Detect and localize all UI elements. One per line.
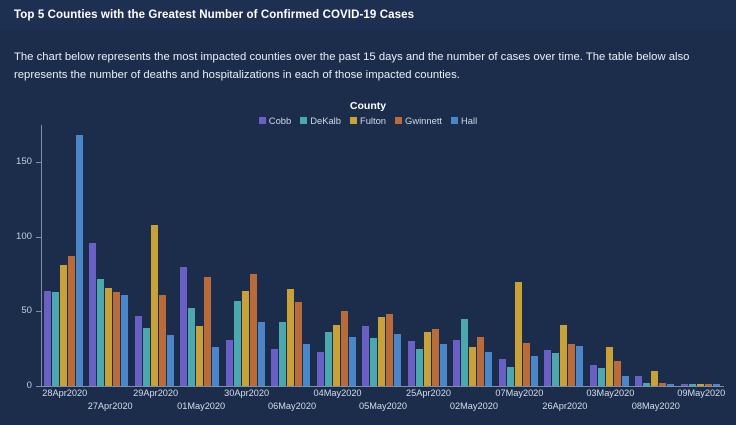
x-tick-label: 01May2020: [177, 401, 225, 411]
bar-fulton[interactable]: [105, 288, 112, 386]
bar-fulton[interactable]: [196, 326, 203, 386]
y-tick-mark: [36, 311, 41, 312]
bar-cobb[interactable]: [271, 349, 278, 386]
bar-cobb[interactable]: [544, 350, 551, 386]
bar-fulton[interactable]: [424, 332, 431, 386]
bar-group: [135, 125, 177, 386]
bar-cobb[interactable]: [408, 341, 415, 386]
bar-cobb[interactable]: [135, 316, 142, 386]
bar-hall[interactable]: [258, 322, 265, 386]
bar-gwinnett[interactable]: [659, 383, 666, 386]
bar-dekalb[interactable]: [188, 308, 195, 386]
bar-fulton[interactable]: [697, 384, 704, 386]
bar-hall[interactable]: [622, 376, 629, 386]
bar-hall[interactable]: [576, 346, 583, 386]
bar-fulton[interactable]: [469, 347, 476, 386]
bar-cobb[interactable]: [89, 243, 96, 386]
bar-hall[interactable]: [713, 384, 720, 386]
bar-dekalb[interactable]: [143, 328, 150, 386]
bar-gwinnett[interactable]: [68, 256, 75, 386]
legend-title: County: [350, 100, 386, 112]
bar-dekalb[interactable]: [416, 349, 423, 386]
bar-gwinnett[interactable]: [204, 277, 211, 386]
bar-group: [499, 125, 541, 386]
bars-area: [42, 125, 724, 386]
bar-hall[interactable]: [212, 347, 219, 386]
bar-group: [635, 125, 677, 386]
x-tick-label: 09May2020: [677, 388, 725, 398]
bar-gwinnett[interactable]: [568, 344, 575, 386]
bar-hall[interactable]: [394, 334, 401, 386]
x-tick-label: 05May2020: [359, 401, 407, 411]
bar-chart-plot: 050100150: [0, 125, 736, 387]
bar-dekalb[interactable]: [598, 368, 605, 386]
bar-fulton[interactable]: [287, 289, 294, 386]
bar-dekalb[interactable]: [370, 338, 377, 386]
x-tick-label: 28Apr2020: [42, 388, 87, 398]
bar-fulton[interactable]: [242, 291, 249, 386]
bar-dekalb[interactable]: [552, 353, 559, 386]
bar-group: [317, 125, 359, 386]
x-tick-label: 26Apr2020: [542, 401, 587, 411]
bar-dekalb[interactable]: [234, 301, 241, 386]
header-band: Top 5 Counties with the Greatest Number …: [0, 0, 736, 30]
bar-group: [89, 125, 131, 386]
bar-dekalb[interactable]: [643, 383, 650, 386]
x-axis-labels: 28Apr202027Apr202029Apr202001May202030Ap…: [0, 388, 736, 423]
y-tick-mark: [36, 162, 41, 163]
bar-hall[interactable]: [167, 335, 174, 386]
bar-hall[interactable]: [303, 344, 310, 386]
y-tick-mark: [36, 386, 41, 387]
bar-group: [362, 125, 404, 386]
legend-swatch-icon: [259, 117, 266, 124]
bar-group: [44, 125, 86, 386]
bar-group: [408, 125, 450, 386]
bar-fulton[interactable]: [651, 371, 658, 386]
bar-gwinnett[interactable]: [159, 295, 166, 386]
bar-fulton[interactable]: [333, 325, 340, 386]
bar-group: [271, 125, 313, 386]
bar-hall[interactable]: [349, 337, 356, 386]
bar-dekalb[interactable]: [461, 319, 468, 386]
bar-cobb[interactable]: [317, 352, 324, 386]
bar-fulton[interactable]: [515, 282, 522, 386]
dashboard-page: Top 5 Counties with the Greatest Number …: [0, 0, 736, 425]
chart-legend: County CobbDeKalbFultonGwinnettHall: [0, 100, 736, 126]
bar-dekalb[interactable]: [325, 332, 332, 386]
description-text: The chart below represents the most impa…: [14, 48, 720, 84]
bar-hall[interactable]: [667, 384, 674, 386]
bar-group: [453, 125, 495, 386]
bar-cobb[interactable]: [590, 365, 597, 386]
bar-gwinnett[interactable]: [250, 274, 257, 386]
bar-gwinnett[interactable]: [477, 337, 484, 386]
bar-cobb[interactable]: [44, 291, 51, 386]
bar-cobb[interactable]: [180, 267, 187, 386]
bar-gwinnett[interactable]: [113, 292, 120, 386]
bar-dekalb[interactable]: [279, 322, 286, 386]
bar-gwinnett[interactable]: [523, 343, 530, 386]
bar-fulton[interactable]: [151, 225, 158, 386]
legend-swatch-icon: [350, 117, 357, 124]
bar-cobb[interactable]: [499, 359, 506, 386]
y-tick-mark: [36, 237, 41, 238]
x-tick-label: 08May2020: [632, 401, 680, 411]
y-tick-label: 100: [0, 231, 32, 242]
bar-dekalb[interactable]: [689, 384, 696, 386]
x-tick-label: 30Apr2020: [224, 388, 269, 398]
x-tick-label: 29Apr2020: [133, 388, 178, 398]
bar-hall[interactable]: [531, 356, 538, 386]
bar-group: [544, 125, 586, 386]
bar-gwinnett[interactable]: [705, 384, 712, 386]
bar-gwinnett[interactable]: [614, 361, 621, 386]
bar-dekalb[interactable]: [97, 279, 104, 386]
bar-group: [590, 125, 632, 386]
bar-cobb[interactable]: [362, 326, 369, 386]
bar-gwinnett[interactable]: [341, 311, 348, 386]
bar-gwinnett[interactable]: [432, 329, 439, 386]
bar-hall[interactable]: [440, 344, 447, 386]
bar-dekalb[interactable]: [52, 292, 59, 386]
x-axis-line: [41, 386, 724, 387]
bar-fulton[interactable]: [60, 265, 67, 386]
x-tick-label: 27Apr2020: [88, 401, 133, 411]
bar-group: [226, 125, 268, 386]
bar-gwinnett[interactable]: [386, 314, 393, 386]
bar-dekalb[interactable]: [507, 367, 514, 386]
x-tick-label: 02May2020: [450, 401, 498, 411]
legend-swatch-icon: [300, 117, 307, 124]
bar-hall[interactable]: [76, 135, 83, 386]
bar-fulton[interactable]: [560, 325, 567, 386]
bar-cobb[interactable]: [226, 340, 233, 386]
bar-cobb[interactable]: [453, 340, 460, 386]
y-tick-label: 50: [0, 305, 32, 316]
page-title: Top 5 Counties with the Greatest Number …: [0, 9, 414, 21]
bar-group: [681, 125, 723, 386]
x-tick-label: 06May2020: [268, 401, 316, 411]
x-tick-label: 04May2020: [314, 388, 362, 398]
x-tick-label: 25Apr2020: [406, 388, 451, 398]
bar-fulton[interactable]: [378, 317, 385, 386]
x-tick-label: 03May2020: [586, 388, 634, 398]
bar-cobb[interactable]: [681, 384, 688, 386]
legend-swatch-icon: [451, 117, 458, 124]
y-tick-label: 150: [0, 156, 32, 167]
legend-swatch-icon: [395, 117, 402, 124]
bar-hall[interactable]: [485, 352, 492, 386]
x-tick-label: 07May2020: [495, 388, 543, 398]
bar-group: [180, 125, 222, 386]
bar-cobb[interactable]: [635, 376, 642, 386]
bar-gwinnett[interactable]: [295, 302, 302, 386]
bar-hall[interactable]: [121, 295, 128, 386]
bar-fulton[interactable]: [606, 347, 613, 386]
